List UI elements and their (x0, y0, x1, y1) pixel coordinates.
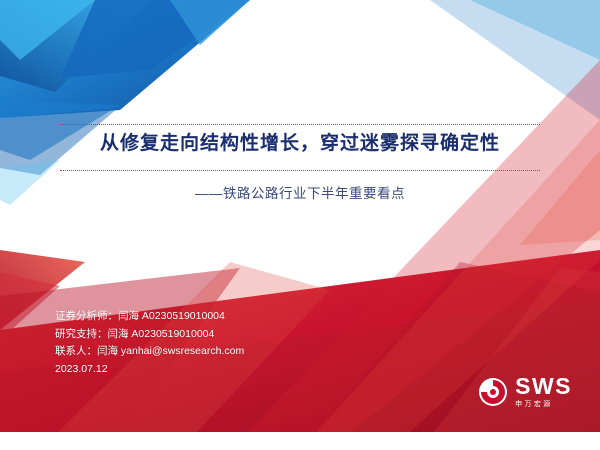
research-support-line: 研究支持：闫海 A0230519010004 (55, 326, 244, 344)
analyst-info: 证券分析师：闫海 A0230519010004 研究支持：闫海 A0230519… (55, 308, 244, 378)
title-area: 从修复走向结构性增长，穿过迷雾探寻确定性 (0, 122, 600, 166)
page-title: 从修复走向结构性增长，穿过迷雾探寻确定性 (0, 122, 600, 166)
analyst-line: 证券分析师：闫海 A0230519010004 (55, 308, 244, 326)
logo-chinese-name: 申万宏源 (515, 401, 572, 408)
date-line: 2023.07.12 (55, 361, 244, 379)
logo-text: SWS 申万宏源 (515, 375, 572, 408)
title-slide: 从修复走向结构性增长，穿过迷雾探寻确定性 ——铁路公路行业下半年重要看点 证券分… (0, 0, 600, 450)
sws-logo: SWS 申万宏源 (478, 375, 572, 408)
title-divider-bottom (60, 170, 540, 171)
bottom-white-strip (0, 432, 600, 450)
swirl-icon (478, 377, 508, 407)
page-subtitle: ——铁路公路行业下半年重要看点 (0, 182, 600, 202)
logo-wordmark: SWS (515, 375, 572, 398)
contact-line: 联系人：闫海 yanhai@swsresearch.com (55, 343, 244, 361)
